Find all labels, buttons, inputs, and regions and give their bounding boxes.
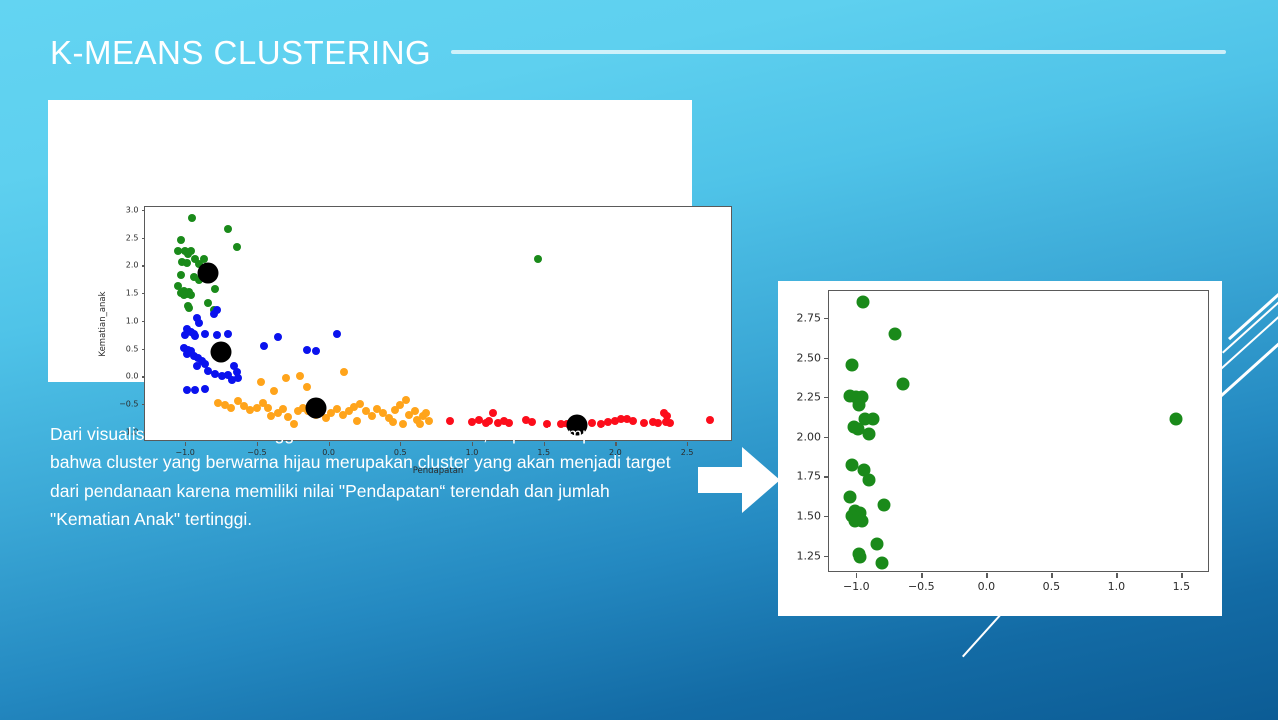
y-tick (142, 376, 146, 377)
data-point (356, 400, 364, 408)
y-tick-label: 0.0 (126, 372, 139, 381)
y-tick-label: 1.75 (797, 470, 822, 483)
y-tick (142, 238, 146, 239)
data-point (303, 346, 311, 354)
x-tick (1051, 573, 1052, 578)
y-tick-label: 1.25 (797, 549, 822, 562)
data-point (274, 333, 282, 341)
data-point (1170, 413, 1183, 426)
y-tick (142, 404, 146, 405)
kmeans-scatter-plot: −1.0−0.50.00.51.01.52.02.5−1.0−0.50.00.5… (144, 206, 732, 441)
decorative-line-2 (1222, 265, 1278, 354)
centroid-marker (305, 397, 326, 418)
x-tick (986, 573, 987, 578)
data-point (177, 271, 185, 279)
slide-canvas: K-MEANS CLUSTERING −1.0−0.50.00.51.01.52… (0, 0, 1278, 720)
data-point (210, 310, 218, 318)
data-point (843, 490, 856, 503)
data-point (191, 332, 199, 340)
data-point (706, 416, 714, 424)
page-title: K-MEANS CLUSTERING (50, 36, 431, 69)
y-tick (142, 265, 146, 266)
y-tick (142, 210, 146, 211)
y-tick-label: 1.50 (797, 509, 822, 522)
y-tick (824, 516, 829, 517)
y-tick-label: 3.0 (126, 205, 139, 214)
x-tick-label: 1.0 (1108, 580, 1126, 593)
data-point (340, 368, 348, 376)
y-tick (142, 321, 146, 322)
y-tick-label: 2.5 (126, 233, 139, 242)
y-tick (142, 293, 146, 294)
data-point (282, 374, 290, 382)
data-point (233, 243, 241, 251)
data-point (211, 285, 219, 293)
y-tick-label: −0.5 (119, 400, 138, 409)
data-point (227, 404, 235, 412)
data-point (187, 291, 195, 299)
centroid-marker (211, 342, 232, 363)
data-point (852, 399, 865, 412)
data-point (224, 225, 232, 233)
centroid-marker (198, 263, 219, 284)
title-divider-rule (451, 50, 1226, 54)
decorative-line-1 (1228, 258, 1278, 341)
data-point (257, 378, 265, 386)
data-point (863, 427, 876, 440)
y-tick (142, 349, 146, 350)
kmeans-y-axis-label: Kematian_anak (98, 291, 108, 356)
x-tick-label: −1.0 (843, 580, 870, 593)
data-point (333, 330, 341, 338)
data-point (183, 386, 191, 394)
data-point (856, 296, 869, 309)
data-point (863, 473, 876, 486)
y-tick-label: 1.0 (126, 316, 139, 325)
y-tick (824, 318, 829, 319)
x-tick (856, 573, 857, 578)
data-point (270, 387, 278, 395)
data-point (889, 327, 902, 340)
data-point (312, 347, 320, 355)
data-point (402, 396, 410, 404)
data-point (224, 330, 232, 338)
x-tick-label: −0.5 (908, 580, 935, 593)
data-point (201, 385, 209, 393)
y-tick-label: 2.25 (797, 391, 822, 404)
data-point (897, 378, 910, 391)
data-point (195, 319, 203, 327)
data-point (534, 255, 542, 263)
right-arrow-icon (696, 437, 782, 523)
y-tick (824, 397, 829, 398)
data-point (855, 514, 868, 527)
data-point (303, 383, 311, 391)
data-point (193, 362, 201, 370)
data-point (185, 304, 193, 312)
y-tick (824, 437, 829, 438)
data-point (279, 405, 287, 413)
y-tick (824, 476, 829, 477)
data-point (876, 557, 889, 570)
data-point (191, 386, 199, 394)
data-point (877, 498, 890, 511)
data-point (188, 214, 196, 222)
x-tick-label: 0.5 (1043, 580, 1061, 593)
title-row: K-MEANS CLUSTERING (50, 28, 1238, 76)
data-point (411, 407, 419, 415)
decorative-line-3 (1216, 275, 1278, 374)
y-tick (824, 358, 829, 359)
x-tick (1116, 573, 1117, 578)
y-tick-label: 0.5 (126, 344, 139, 353)
data-point (264, 404, 272, 412)
data-point (846, 359, 859, 372)
green-cluster-plot: −1.0−0.50.00.51.01.51.251.501.752.002.25… (828, 290, 1209, 572)
x-tick (921, 573, 922, 578)
y-tick-label: 2.75 (797, 311, 822, 324)
x-tick-label: 1.5 (1173, 580, 1191, 593)
data-point (181, 331, 189, 339)
y-tick (824, 556, 829, 557)
data-point (871, 538, 884, 551)
data-point (296, 372, 304, 380)
data-point (183, 259, 191, 267)
data-point (228, 376, 236, 384)
y-tick-label: 1.5 (126, 289, 139, 298)
x-tick-label: 0.0 (978, 580, 996, 593)
y-tick-label: 2.50 (797, 351, 822, 364)
data-point (201, 330, 209, 338)
data-point (260, 342, 268, 350)
data-point (177, 236, 185, 244)
kmeans-scatter-card: −1.0−0.50.00.51.01.52.02.5−1.0−0.50.00.5… (48, 100, 692, 382)
data-point (213, 331, 221, 339)
y-tick-label: 2.0 (126, 261, 139, 270)
y-tick-label: 2.00 (797, 430, 822, 443)
conclusion-paragraph: Dari visualisasi Kmeans menggunakan 4 Cl… (50, 420, 690, 533)
data-point (867, 413, 880, 426)
data-point (854, 551, 867, 564)
data-point (489, 409, 497, 417)
x-tick (1181, 573, 1182, 578)
